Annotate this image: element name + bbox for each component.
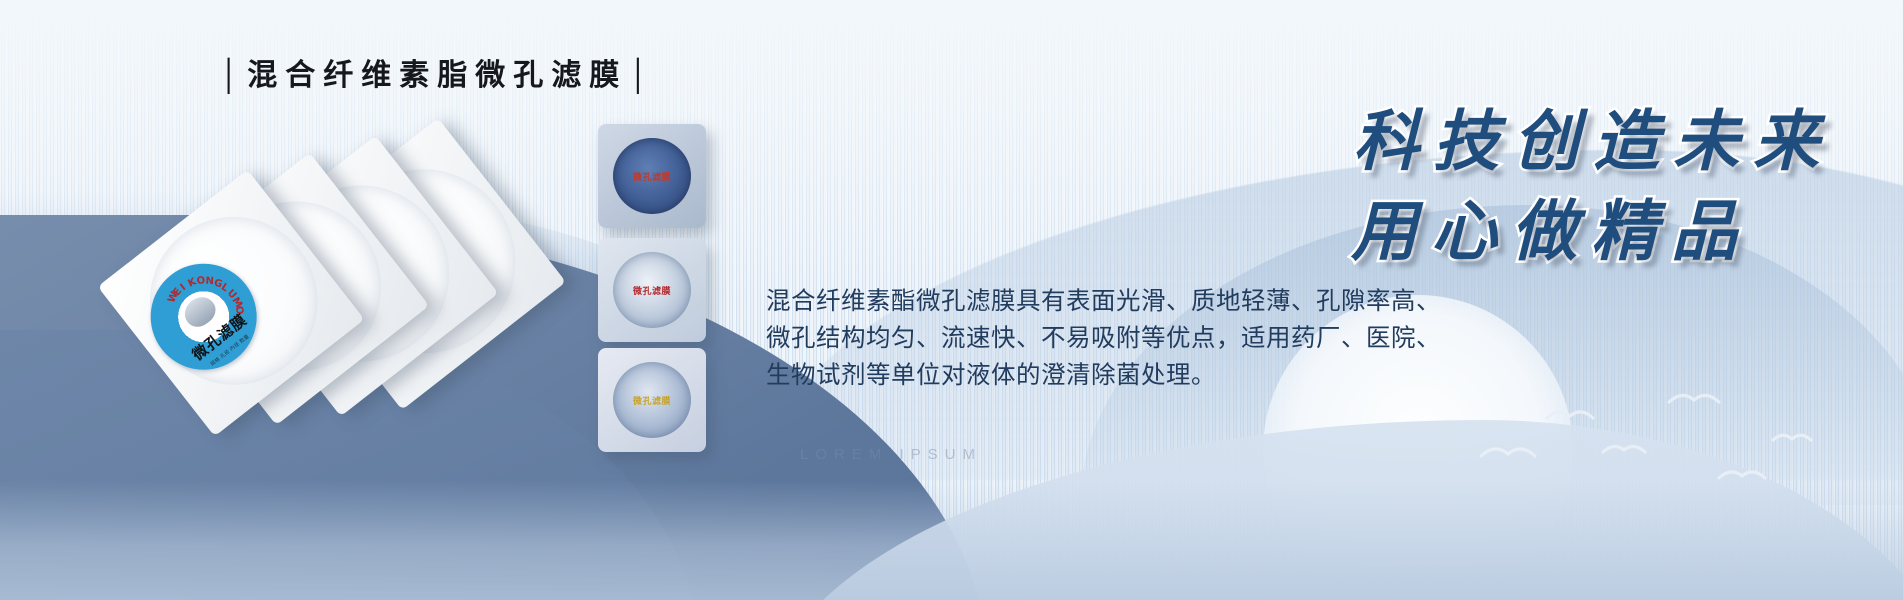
headline-line-2: 用心做精品 [1351, 178, 1751, 274]
membrane-chip-3: 微孔滤膜 [598, 348, 706, 452]
headline-text-1: 科技创造未来 [1353, 88, 1833, 184]
chip-label-text: 微孔滤膜 [613, 252, 691, 328]
description-line-2: 微孔结构均匀、流速快、不易吸附等优点，适用药厂、医院、 [766, 320, 1456, 357]
chip-label-text: 微孔滤膜 [613, 138, 691, 214]
chip-label-text: 微孔滤膜 [613, 362, 691, 438]
headline-text-2: 用心做精品 [1351, 178, 1751, 274]
description-paragraph: 混合纤维素酯微孔滤膜具有表面光滑、质地轻薄、孔隙率高、 微孔结构均匀、流速快、不… [766, 283, 1456, 394]
membrane-disc: 微孔滤膜 [613, 252, 691, 328]
section-title: │混合纤维素脂微孔滤膜│ [218, 50, 657, 94]
membrane-disc: 微孔滤膜 [613, 138, 691, 214]
description-line-3: 生物试剂等单位对液体的澄清除菌处理。 [766, 357, 1456, 394]
promo-banner: │混合纤维素脂微孔滤膜│ 科技创造未来 用心做精品 混合纤维素酯微孔滤膜具有表面… [0, 0, 1903, 600]
watermark-text: LOREM IPSUM [800, 446, 982, 463]
birds-decoration [1473, 390, 1833, 530]
membrane-chip-1: 微孔滤膜 [598, 124, 706, 228]
headline-line-1: 科技创造未来 [1353, 88, 1833, 184]
membrane-chip-2: 微孔滤膜 [598, 238, 706, 342]
membrane-disc: 微孔滤膜 [613, 362, 691, 438]
description-line-1: 混合纤维素酯微孔滤膜具有表面光滑、质地轻薄、孔隙率高、 [766, 283, 1456, 320]
